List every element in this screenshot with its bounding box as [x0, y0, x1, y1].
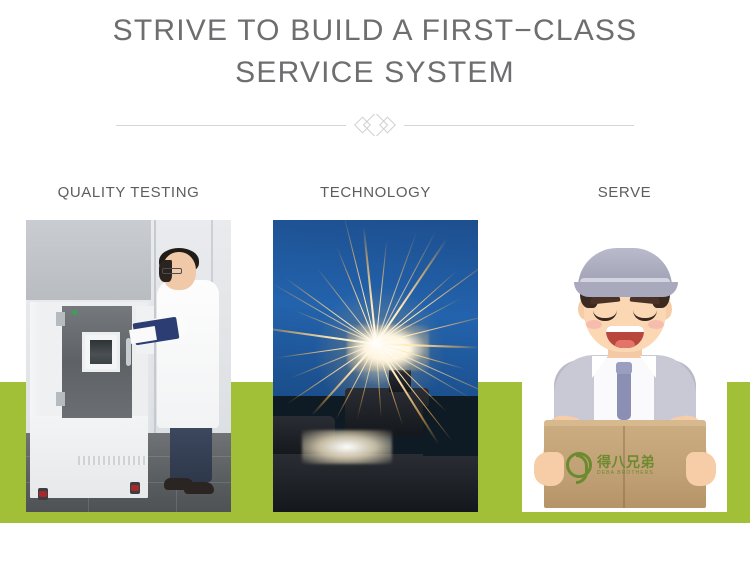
- quality-testing-photo[interactable]: ⬤: [26, 220, 231, 512]
- technology-photo[interactable]: [273, 220, 478, 512]
- lab-scene: ⬤: [26, 220, 231, 512]
- serve-illustration[interactable]: 得八兄弟 DEBA BROTHERS: [522, 220, 727, 512]
- diamond-ornament-icon: [348, 114, 402, 136]
- feature-column-quality-testing[interactable]: QUALITY TESTING: [26, 180, 231, 512]
- logo-chinese-text: 得八兄弟: [597, 455, 655, 469]
- column-label: QUALITY TESTING: [26, 180, 231, 220]
- divider-rule-left: [116, 125, 346, 126]
- column-label: TECHNOLOGY: [273, 180, 478, 220]
- promo-banner: STRIVE TO BUILD A FIRST−CLASS SERVICE SY…: [0, 0, 750, 569]
- feature-column-technology[interactable]: TECHNOLOGY: [273, 180, 478, 512]
- sparks-scene: [273, 220, 478, 512]
- db-monogram-icon: [566, 452, 592, 478]
- feature-column-serve[interactable]: SERVE: [522, 180, 727, 512]
- section-divider: [0, 110, 750, 140]
- logo-english-text: DEBA BROTHERS: [597, 471, 655, 476]
- delivery-mascot: 得八兄弟 DEBA BROTHERS: [522, 220, 727, 512]
- feature-columns: QUALITY TESTING: [0, 180, 750, 525]
- header: STRIVE TO BUILD A FIRST−CLASS SERVICE SY…: [0, 0, 750, 94]
- page-title: STRIVE TO BUILD A FIRST−CLASS SERVICE SY…: [0, 10, 750, 94]
- divider-rule-right: [404, 125, 634, 126]
- column-label: SERVE: [522, 180, 727, 220]
- box-logo: 得八兄弟 DEBA BROTHERS: [566, 448, 684, 482]
